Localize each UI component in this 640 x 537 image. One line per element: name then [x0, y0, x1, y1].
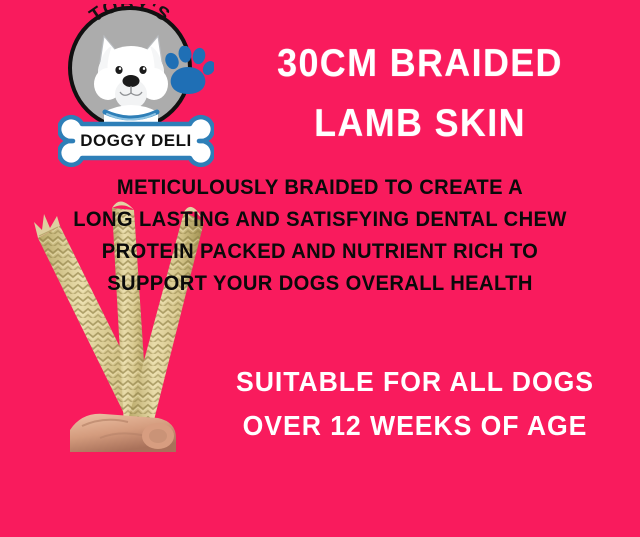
paw-print-icon	[162, 46, 214, 96]
headline-line-2: LAMB SKIN	[227, 104, 613, 143]
headline-line-1: 30CM BRAIDED	[227, 44, 613, 83]
description-line-1: METICULOUSLY BRAIDED TO CREATE A	[13, 172, 627, 204]
bone-banner-icon	[58, 112, 214, 170]
product-poster: TOBY'S	[0, 0, 640, 537]
description-line-2: LONG LASTING AND SATISFYING DENTAL CHEW	[13, 204, 627, 236]
description-line-3: PROTEIN PACKED AND NUTRIENT RICH TO	[13, 236, 627, 268]
suitability-line-2: OVER 12 WEEKS OF AGE	[216, 412, 615, 440]
description-block: METICULOUSLY BRAIDED TO CREATE A LONG LA…	[0, 172, 640, 300]
brand-logo: TOBY'S	[58, 4, 214, 174]
description-line-4: SUPPORT YOUR DOGS OVERALL HEALTH	[13, 268, 627, 300]
suitability-line-1: SUITABLE FOR ALL DOGS	[216, 368, 615, 396]
